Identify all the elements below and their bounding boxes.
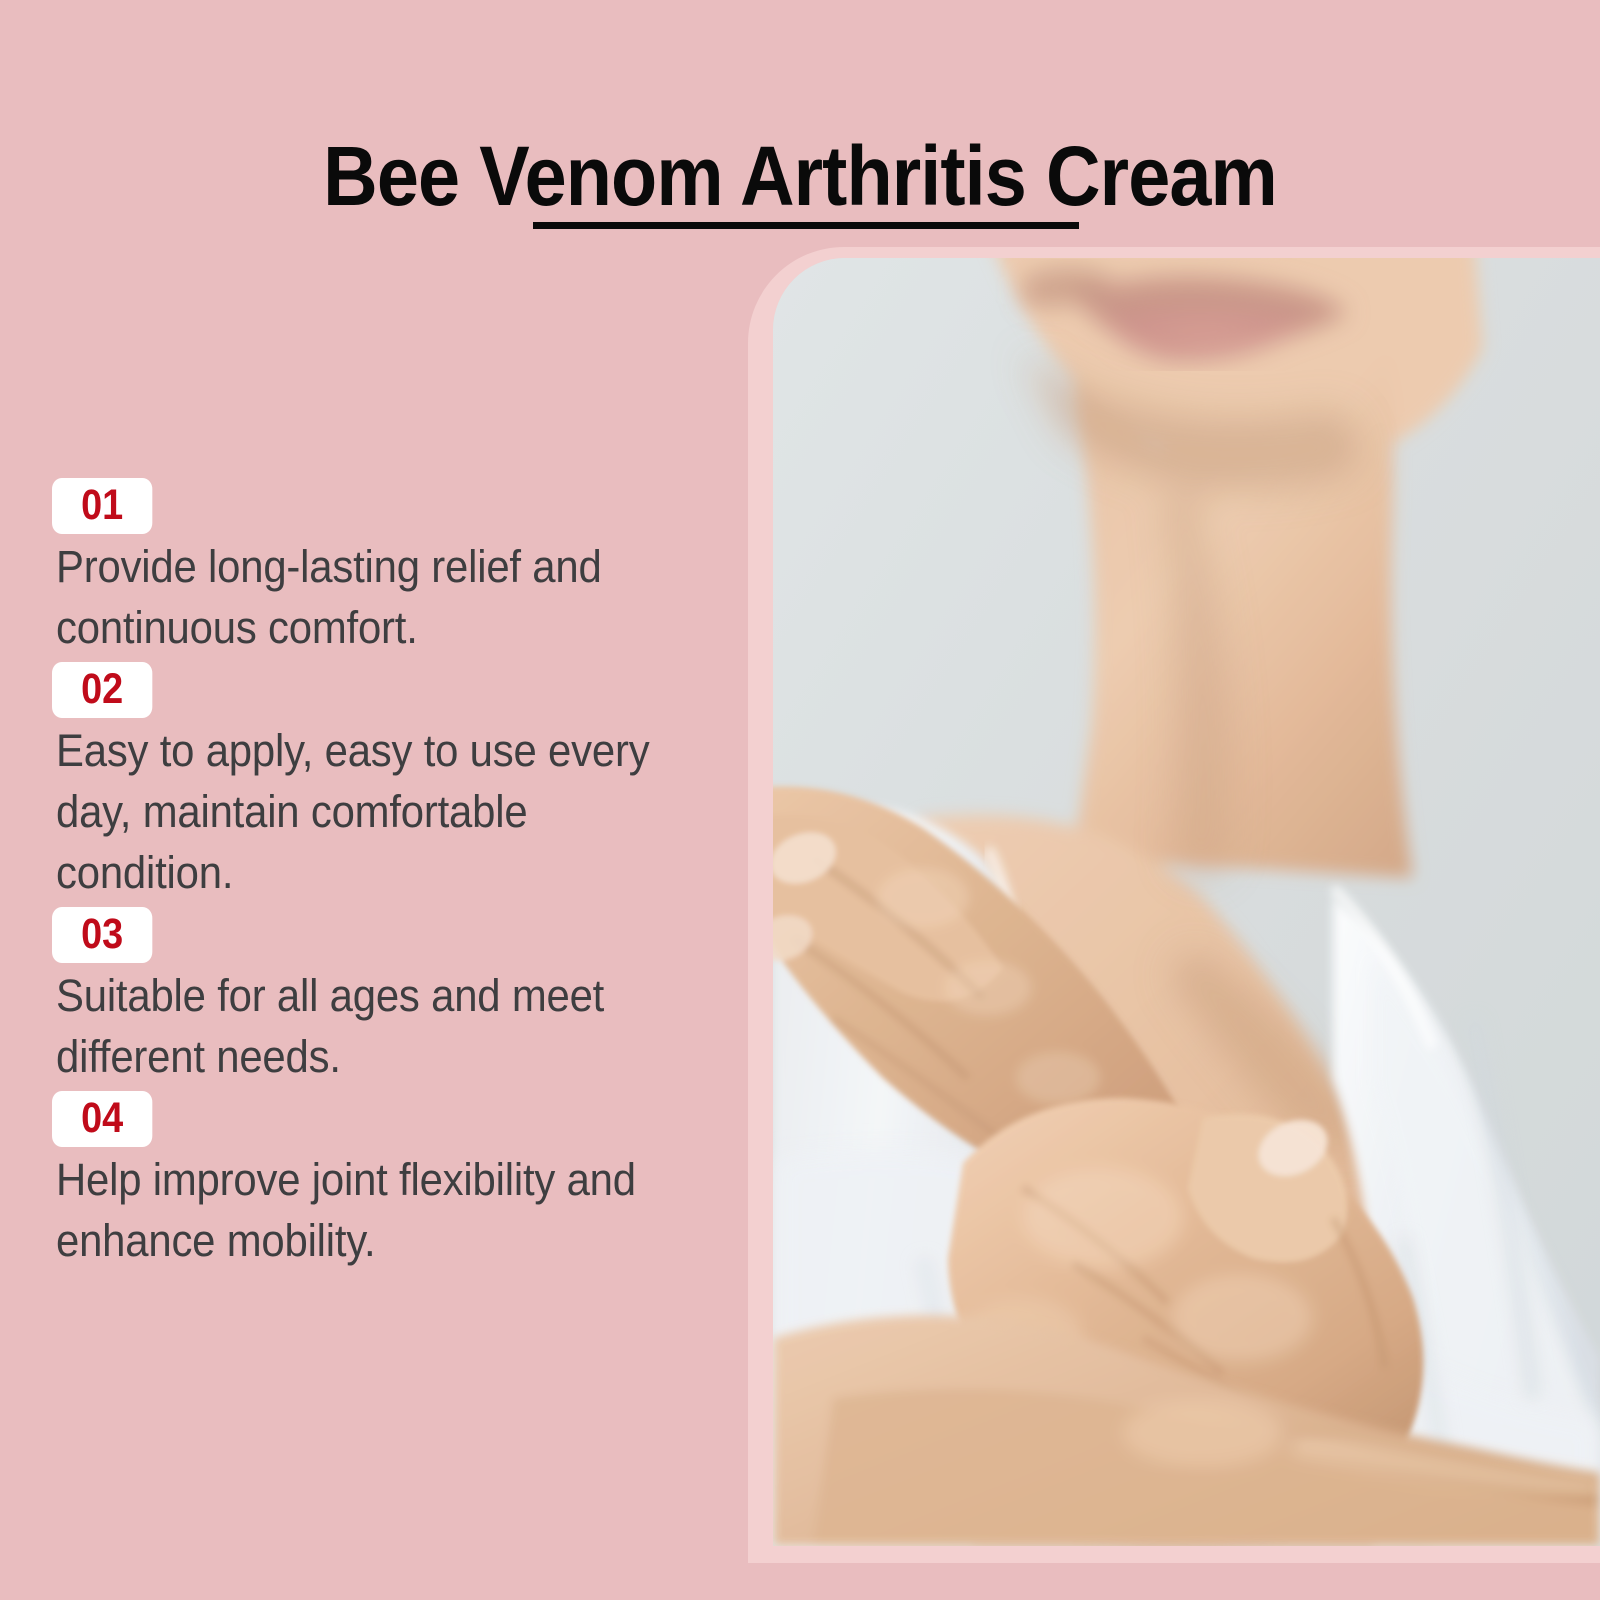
list-item: 01 Provide long-lasting relief and conti… — [52, 478, 712, 658]
page-title: Bee Venom Arthritis Cream — [80, 128, 1520, 224]
feature-number-badge: 01 — [52, 478, 152, 534]
feature-list: 01 Provide long-lasting relief and conti… — [52, 478, 712, 1275]
list-item: 03 Suitable for all ages and meet differ… — [52, 907, 712, 1087]
wrist-pain-photo — [773, 258, 1600, 1546]
feature-number-badge: 02 — [52, 662, 152, 718]
list-item: 02 Easy to apply, easy to use every day,… — [52, 662, 712, 903]
title-divider — [533, 222, 1079, 229]
product-feature-poster: Bee Venom Arthritis Cream 01 Provide lon… — [0, 0, 1600, 1600]
feature-description: Suitable for all ages and meet different… — [56, 965, 666, 1087]
feature-description: Easy to apply, easy to use every day, ma… — [56, 720, 666, 903]
feature-description: Help improve joint flexibility and enhan… — [56, 1149, 666, 1271]
feature-description: Provide long-lasting relief and continuo… — [56, 536, 666, 658]
list-item: 04 Help improve joint flexibility and en… — [52, 1091, 712, 1271]
product-photo — [773, 258, 1600, 1546]
feature-number-badge: 03 — [52, 907, 152, 963]
feature-number-badge: 04 — [52, 1091, 152, 1147]
